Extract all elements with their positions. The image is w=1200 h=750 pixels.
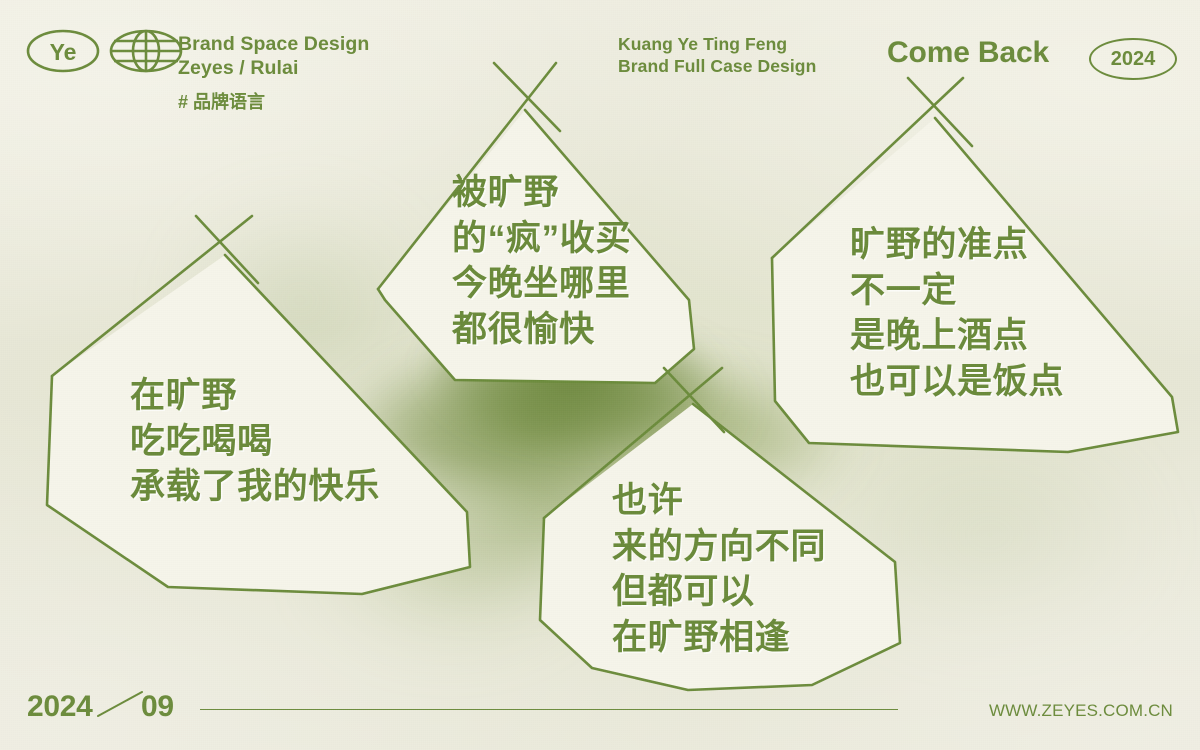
brand-hashtag: # 品牌语言 bbox=[178, 88, 265, 114]
ellipse-monogram-icon: Ye bbox=[26, 27, 100, 75]
project-title: Kuang Ye Ting Feng Brand Full Case Desig… bbox=[618, 34, 816, 78]
poster-footer: 2024 09 WWW.ZEYES.COM.CN bbox=[0, 670, 1200, 750]
svg-text:Ye: Ye bbox=[50, 39, 77, 65]
brand-logo[interactable]: Ye bbox=[26, 27, 183, 75]
brand-name-lines: Brand Space Design Zeyes / Rulai bbox=[178, 33, 369, 81]
footer-year: 2024 bbox=[27, 690, 93, 724]
footer-month: 09 bbox=[141, 690, 174, 724]
tent-text-right: 旷野的准点 不一定 是晚上酒点 也可以是饭点 bbox=[850, 222, 1064, 404]
tent-text-left: 在旷野 吃吃喝喝 承载了我的快乐 bbox=[130, 373, 380, 510]
footer-url[interactable]: WWW.ZEYES.COM.CN bbox=[989, 701, 1173, 721]
globe-icon bbox=[109, 27, 183, 75]
tent-text-bottom: 也许 来的方向不同 但都可以 在旷野相逢 bbox=[612, 478, 826, 660]
year-badge: 2024 bbox=[1089, 38, 1177, 80]
tent-text-top: 被旷野 的“疯”收买 今晚坐哪里 都很愉快 bbox=[452, 170, 631, 352]
poster-header: Ye Brand Space Design Zeyes / Rulai # 品牌… bbox=[0, 0, 1200, 120]
come-back-headline: Come Back bbox=[887, 36, 1049, 70]
slash-divider-icon bbox=[96, 690, 144, 718]
poster-canvas: .tent-fill { fill: #f6f5ea; } .tent-line… bbox=[0, 0, 1200, 750]
footer-rule bbox=[200, 709, 898, 710]
